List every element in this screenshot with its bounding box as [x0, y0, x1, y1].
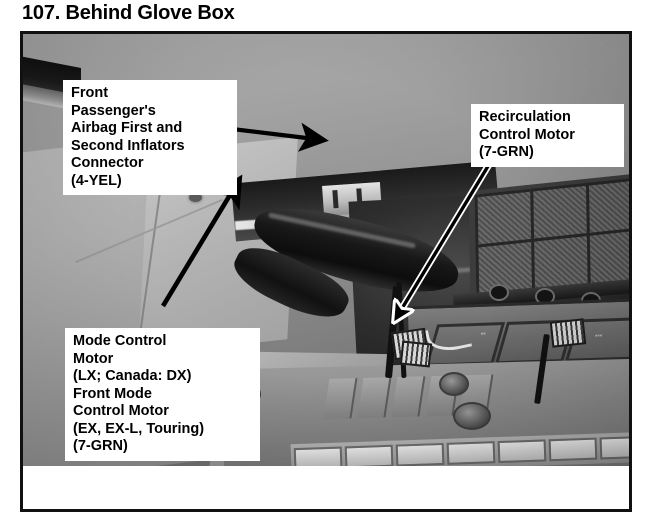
figure-frame: ▪▪ ▪▪▪ [20, 31, 632, 512]
housing-marking: ▪▪▪ [595, 333, 603, 340]
trim-fin [357, 377, 391, 418]
mode-control-motor-connector-body [400, 340, 432, 367]
grille-slat [447, 441, 496, 465]
callout-mode-control-motor: Mode Control Motor (LX; Canada: DX) Fron… [65, 328, 260, 461]
bracket-slot [332, 190, 338, 208]
filter-clip [489, 284, 509, 301]
grille-slat [549, 438, 598, 462]
grille-slat [396, 443, 445, 466]
grille-slat [294, 447, 343, 466]
callout-recirculation-control-motor: Recirculation Control Motor (7-GRN) [471, 104, 624, 167]
callout-front-passenger-airbag-connector: Front Passenger's Airbag First and Secon… [63, 80, 237, 195]
recirculation-motor-connector [550, 318, 587, 347]
grille-slat [498, 439, 547, 463]
filter-grid-cell [587, 227, 629, 287]
motor-fastener [453, 402, 491, 430]
housing-marking: ▪▪ [481, 331, 486, 338]
grille-slat [345, 445, 394, 466]
grille-slat [600, 436, 629, 460]
trim-fin [323, 378, 357, 419]
filter-grid-cell [586, 177, 629, 237]
motor-fastener [439, 372, 469, 396]
trim-fin [391, 376, 425, 417]
page-title: 107. Behind Glove Box [22, 2, 235, 25]
